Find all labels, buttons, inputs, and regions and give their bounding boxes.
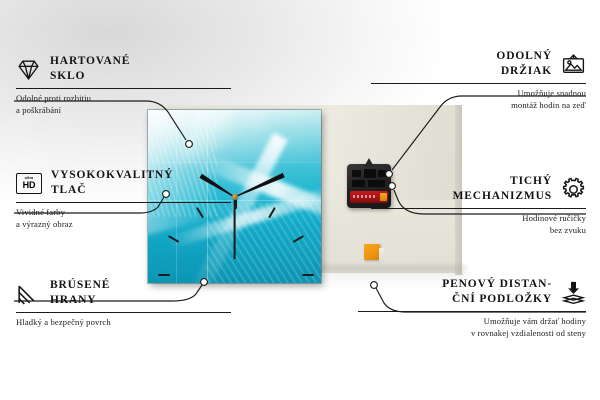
feature-foam-spacers: PENOVÝ DISTAN- ČNÍ PODLOŽKY Umožňuje vám…	[358, 277, 586, 339]
badge-hd-text: HD	[23, 181, 36, 190]
divider	[358, 311, 586, 312]
feature-description: Odolné proti rozbitiu a poškrábání	[16, 92, 231, 116]
divider	[16, 202, 231, 203]
feature-title: HARTOVANÉ SKLO	[50, 54, 130, 85]
feature-description: Umožňuje snadnou montáž hodin na zeď	[371, 87, 586, 111]
feature-heading: ultra HD VYSOKOKVALITNÝ TLAČ	[16, 168, 231, 199]
feature-polished-edges: BRÚSENÉ HRANY Hladký a bezpečný povrch	[16, 278, 231, 328]
feature-title: TICHÝ MECHANIZMUS	[453, 174, 552, 205]
feature-description: Umožňuje vám držať hodiny v rovnakej vzd…	[358, 315, 586, 339]
divider	[16, 312, 231, 313]
feature-description: Hodinové ručičky bez zvuku	[371, 212, 586, 236]
picture-hanger-icon	[561, 52, 586, 77]
feature-high-quality-print: ultra HD VYSOKOKVALITNÝ TLAČ Vividné far…	[16, 168, 231, 230]
feature-title: PENOVÝ DISTAN- ČNÍ PODLOŽKY	[442, 277, 552, 308]
feature-description: Hladký a bezpečný povrch	[16, 316, 231, 328]
feature-silent-mechanism: TICHÝ MECHANIZMUS Hodinové ručičky bez z…	[371, 174, 586, 236]
ultra-hd-badge-icon: ultra HD	[16, 173, 42, 194]
feature-heading: HARTOVANÉ SKLO	[16, 54, 231, 85]
feature-heading: BRÚSENÉ HRANY	[16, 278, 231, 309]
spacer-stack-icon	[561, 280, 586, 305]
feature-title: BRÚSENÉ HRANY	[50, 278, 110, 309]
diamond-icon	[16, 57, 41, 82]
divider	[371, 208, 586, 209]
feature-title: VYSOKOKVALITNÝ TLAČ	[51, 168, 173, 199]
feature-durable-hanger: ODOLNÝ DRŽIAK Umožňuje snadnou montáž ho…	[371, 49, 586, 111]
brushed-edges-icon	[16, 281, 41, 306]
divider	[16, 88, 231, 89]
feature-heading: PENOVÝ DISTAN- ČNÍ PODLOŽKY	[358, 277, 586, 308]
feature-description: Vividné farby a výrazný obraz	[16, 206, 231, 230]
feature-heading: ODOLNÝ DRŽIAK	[371, 49, 586, 80]
feature-title: ODOLNÝ DRŽIAK	[496, 49, 552, 80]
feature-heading: TICHÝ MECHANIZMUS	[371, 174, 586, 205]
infographic-stage: HARTOVANÉ SKLO Odolné proti rozbitiu a p…	[0, 0, 600, 400]
divider	[371, 83, 586, 84]
gear-icon	[561, 177, 586, 202]
connector-dot-1	[186, 141, 193, 148]
feature-hardened-glass: HARTOVANÉ SKLO Odolné proti rozbitiu a p…	[16, 54, 231, 116]
